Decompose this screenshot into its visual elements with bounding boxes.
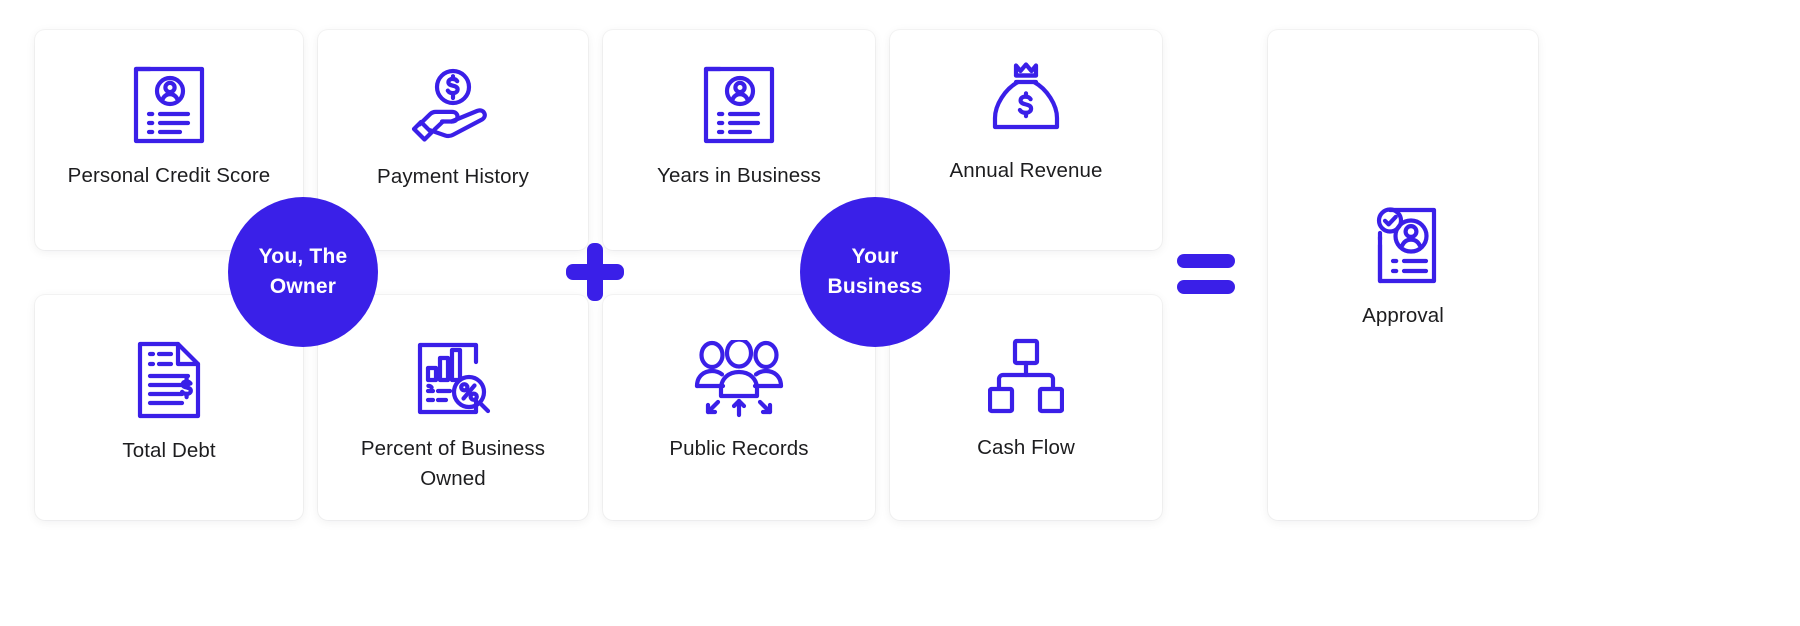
card-payment-history: Payment History: [318, 30, 588, 250]
card-label: Cash Flow: [977, 433, 1075, 463]
card-label: Payment History: [377, 162, 529, 192]
document-dollar-lines-icon: [136, 340, 202, 420]
money-bag-dollar-icon: [987, 60, 1065, 140]
card-percent-of-business-owned: Percent of Business Owned: [318, 295, 588, 520]
card-label: Approval: [1362, 301, 1444, 331]
card-label: Annual Revenue: [950, 156, 1103, 186]
card-label: Years in Business: [657, 161, 821, 191]
card-cash-flow: Cash Flow: [890, 295, 1162, 520]
infographic-canvas: Personal Credit Score Payment History: [0, 0, 1800, 626]
people-group-arrows-icon: [693, 340, 785, 418]
hub-your-business: Your Business: [800, 197, 950, 347]
bar-chart-percent-magnifier-icon: [414, 340, 492, 418]
id-document-person-icon: [132, 65, 206, 145]
hub-you-the-owner: You, The Owner: [228, 197, 378, 347]
hand-holding-dollar-coin-icon: [410, 68, 496, 146]
equals-operator-icon: [1177, 254, 1235, 294]
card-label: Public Records: [669, 434, 808, 464]
id-document-person-icon: [702, 65, 776, 145]
org-chart-flow-icon: [988, 337, 1064, 417]
card-annual-revenue: Annual Revenue: [890, 30, 1162, 250]
plus-operator-icon: [566, 243, 624, 301]
hub-line-2: Owner: [259, 272, 348, 302]
card-label: Percent of Business Owned: [346, 434, 561, 493]
hub-line-1: You, The: [259, 242, 348, 272]
card-label: Total Debt: [122, 436, 215, 466]
card-approval: Approval: [1268, 30, 1538, 520]
card-label: Personal Credit Score: [68, 161, 271, 191]
approved-document-person-check-icon: [1366, 205, 1440, 285]
hub-line-1: Your: [828, 242, 923, 272]
hub-line-2: Business: [828, 272, 923, 302]
